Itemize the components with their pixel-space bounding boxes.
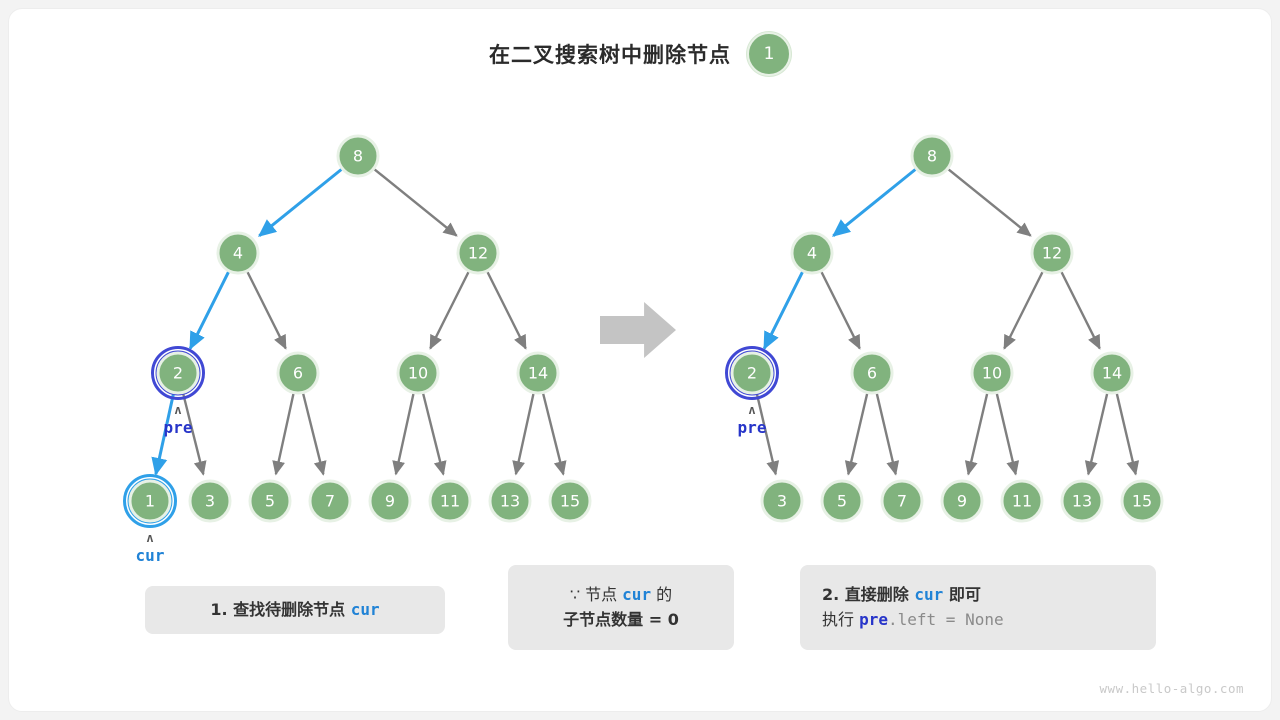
tree-node-14-before: 14	[518, 353, 558, 393]
node-label: 4	[233, 244, 243, 263]
tree-node-7-after: 7	[882, 481, 922, 521]
node-label: 10	[982, 364, 1002, 383]
pointer-caret-icon: ʌ	[748, 403, 755, 417]
tree-node-2-before: 2	[153, 348, 204, 399]
pointer-name: pre	[738, 418, 767, 437]
tree-node-7-before: 7	[310, 481, 350, 521]
tree-node-6-before: 6	[278, 353, 318, 393]
node-label: 6	[293, 364, 303, 383]
node-label: 12	[1042, 244, 1062, 263]
node-label: 5	[265, 492, 275, 511]
caption-reason-line-1: ∵ 节点 cur 的	[570, 583, 672, 608]
pointer-label-pre-after: ʌpre	[738, 403, 767, 437]
caption-step-2-line-1-suffix: 即可	[943, 585, 981, 604]
tree-edge-L4-to-L6	[248, 272, 286, 348]
caption-step-1-line: 1. 查找待删除节点 cur	[210, 598, 379, 623]
node-label: 13	[500, 492, 520, 511]
tree-node-9-before: 9	[370, 481, 410, 521]
node-label: 11	[1012, 492, 1032, 511]
tree-edge-R14-to-R15	[1117, 394, 1136, 474]
node-label: 8	[353, 147, 363, 166]
caption-step-2-line-2-code: pre	[859, 610, 888, 629]
tree-node-6-after: 6	[852, 353, 892, 393]
tree-edge-R8-to-R12	[949, 170, 1031, 236]
tree-edge-L6-to-L5	[276, 394, 294, 474]
caption-step-1-text: 1. 查找待删除节点	[210, 600, 350, 619]
caption-reason-line-1-suffix: 的	[651, 585, 672, 604]
caption-step-2-line-2: 执行 pre.left = None	[822, 608, 1004, 633]
pointer-caret-icon: ʌ	[174, 403, 181, 417]
tree-edge-R8-to-R4	[833, 170, 915, 236]
tree-edge-L10-to-L11	[423, 394, 443, 474]
tree-edge-L8-to-L4	[259, 170, 341, 236]
caption-step-2-line-1: 2. 直接删除 cur 即可	[822, 583, 981, 608]
pointer-label-cur-before: ʌcur	[136, 531, 165, 565]
node-label: 10	[408, 364, 428, 383]
caption-step-2-line-2-suffix: .left = None	[888, 610, 1004, 629]
caption-reason-line-2: 子节点数量 = 0	[563, 608, 679, 633]
tree-node-12-after: 12	[1032, 233, 1072, 273]
node-label: 2	[173, 364, 183, 383]
node-label: 5	[837, 492, 847, 511]
tree-edge-R4-to-R2	[764, 272, 802, 348]
node-label: 1	[145, 492, 155, 511]
tree-node-11-before: 11	[430, 481, 470, 521]
tree-edge-R12-to-R14	[1062, 272, 1100, 348]
tree-node-5-before: 5	[250, 481, 290, 521]
watermark: www.hello-algo.com	[1100, 681, 1244, 696]
node-label: 4	[807, 244, 817, 263]
node-label: 14	[528, 364, 548, 383]
node-label: 9	[385, 492, 395, 511]
node-label: 2	[747, 364, 757, 383]
node-label: 3	[205, 492, 215, 511]
node-label: 12	[468, 244, 488, 263]
tree-node-1-before: 1	[125, 476, 176, 527]
node-label: 15	[560, 492, 580, 511]
tree-edge-R12-to-R10	[1004, 272, 1042, 348]
tree-node-4-after: 4	[792, 233, 832, 273]
transition-arrow-icon	[600, 302, 676, 358]
tree-node-5-after: 5	[822, 481, 862, 521]
caption-step-1: 1. 查找待删除节点 cur	[145, 586, 445, 634]
tree-node-10-before: 10	[398, 353, 438, 393]
tree-node-4-before: 4	[218, 233, 258, 273]
tree-node-13-after: 13	[1062, 481, 1102, 521]
caption-step-2: 2. 直接删除 cur 即可 执行 pre.left = None	[800, 565, 1156, 650]
transition-arrow-layer	[600, 302, 676, 358]
tree-node-15-after: 15	[1122, 481, 1162, 521]
tree-node-8-after: 8	[912, 136, 952, 176]
tree-edge-L12-to-L14	[488, 272, 526, 348]
figure-root: 在二叉搜索树中删除节点 1 84122610141357911131584122…	[0, 0, 1280, 720]
tree-edge-L10-to-L9	[396, 394, 414, 474]
node-label: 7	[325, 492, 335, 511]
tree-node-14-after: 14	[1092, 353, 1132, 393]
tree-edge-L14-to-L15	[543, 394, 563, 474]
caption-step-2-line-1-prefix: 2. 直接删除	[822, 585, 914, 604]
node-label: 11	[440, 492, 460, 511]
tree-edge-R6-to-R5	[848, 394, 867, 474]
caption-reason: ∵ 节点 cur 的 子节点数量 = 0	[508, 565, 734, 650]
tree-edge-R6-to-R7	[877, 394, 896, 474]
pointer-caret-icon: ʌ	[146, 531, 153, 545]
tree-edge-L12-to-L10	[430, 272, 468, 348]
tree-edge-L4-to-L2	[190, 272, 228, 348]
caption-step-2-line-1-code: cur	[914, 585, 943, 604]
tree-edge-L8-to-L12	[375, 170, 457, 236]
node-label: 14	[1102, 364, 1122, 383]
node-label: 15	[1132, 492, 1152, 511]
tree-node-13-before: 13	[490, 481, 530, 521]
tree-node-3-after: 3	[762, 481, 802, 521]
pointer-name: cur	[136, 546, 165, 565]
node-label: 7	[897, 492, 907, 511]
caption-reason-line-1-code: cur	[622, 585, 651, 604]
tree-node-11-after: 11	[1002, 481, 1042, 521]
tree-node-2-after: 2	[727, 348, 778, 399]
tree-edge-R10-to-R9	[968, 394, 987, 474]
tree-edge-R14-to-R13	[1088, 394, 1107, 474]
caption-reason-line-1-prefix: ∵ 节点	[570, 585, 622, 604]
tree-node-3-before: 3	[190, 481, 230, 521]
pointer-name: pre	[164, 418, 193, 437]
node-label: 3	[777, 492, 787, 511]
node-label: 9	[957, 492, 967, 511]
tree-node-15-before: 15	[550, 481, 590, 521]
tree-node-10-after: 10	[972, 353, 1012, 393]
node-label: 13	[1072, 492, 1092, 511]
tree-edge-R10-to-R11	[997, 394, 1016, 474]
caption-step-2-line-2-prefix: 执行	[822, 610, 859, 629]
tree-node-12-before: 12	[458, 233, 498, 273]
tree-edge-L14-to-L13	[516, 394, 534, 474]
pointer-label-pre-before: ʌpre	[164, 403, 193, 437]
node-label: 8	[927, 147, 937, 166]
tree-edge-R4-to-R6	[822, 272, 860, 348]
tree-edge-L6-to-L7	[303, 394, 323, 474]
caption-step-1-code: cur	[351, 600, 380, 619]
node-label: 6	[867, 364, 877, 383]
tree-node-8-before: 8	[338, 136, 378, 176]
tree-node-9-after: 9	[942, 481, 982, 521]
